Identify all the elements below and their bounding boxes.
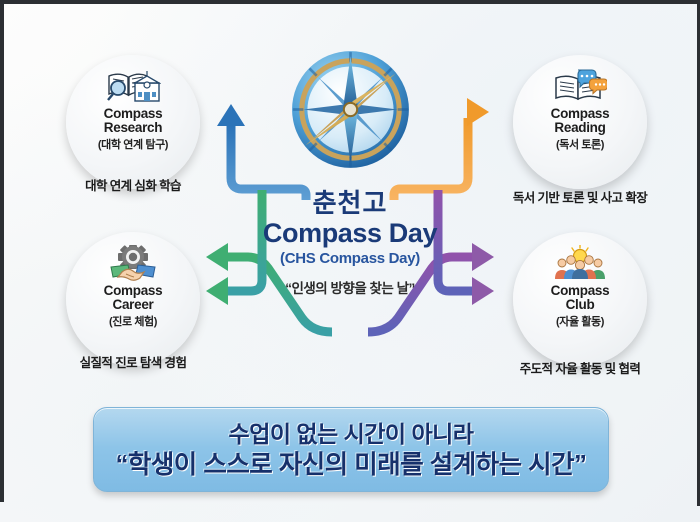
- center-title-ko: 춘천고: [215, 188, 485, 218]
- center-title-block: 춘천고 Compass Day (CHS Compass Day) “인생의 방…: [215, 188, 485, 297]
- center-slogan: “인생의 방향을 찾는 날”: [215, 277, 485, 297]
- bottom-message-banner: 수업이 없는 시간이 아니라 “학생이 스스로 자신의 미래를 설계하는 시간”: [93, 407, 609, 492]
- node-compass-reading[interactable]: CompassReading (독서 토론): [513, 55, 647, 189]
- node-title-club: CompassClub: [551, 284, 610, 311]
- node-subtitle-research: (대학 연계 탐구): [98, 136, 168, 152]
- node-subtitle-reading: (독서 토론): [556, 136, 604, 152]
- node-subtitle-career: (진로 체험): [109, 313, 157, 329]
- compass-rose-icon: [289, 48, 412, 171]
- gear-handshake-icon: [108, 245, 158, 281]
- book-magnifier-university-icon: [105, 68, 161, 104]
- node-title-research: CompassResearch: [104, 107, 163, 134]
- banner-line-2: “학생이 스스로 자신의 미래를 설계하는 시간”: [116, 449, 587, 481]
- node-title-reading: CompassReading: [551, 107, 610, 134]
- caption-career: 실질적 진로 탐색 경험: [23, 352, 243, 371]
- caption-club: 주도적 자율 활동 및 협력: [470, 358, 690, 377]
- banner-line-1: 수업이 없는 시간이 아니라: [229, 419, 474, 449]
- node-compass-research[interactable]: CompassResearch (대학 연계 탐구): [66, 55, 200, 189]
- node-subtitle-club: (자율 활동): [556, 313, 604, 329]
- node-compass-career[interactable]: CompassCareer (진로 체험): [66, 232, 200, 366]
- people-lightbulb-icon: [552, 245, 608, 281]
- open-book-speech-bubbles-icon: [553, 68, 607, 104]
- node-compass-club[interactable]: CompassClub (자율 활동): [513, 232, 647, 366]
- infographic-canvas: 춘천고 Compass Day (CHS Compass Day) “인생의 방…: [0, 0, 700, 522]
- center-subtitle: (CHS Compass Day): [215, 248, 485, 270]
- node-title-career: CompassCareer: [104, 284, 163, 311]
- caption-research: 대학 연계 심화 학습: [23, 175, 243, 194]
- center-title-en: Compass Day: [215, 218, 485, 248]
- caption-reading: 독서 기반 토론 및 사고 확장: [470, 187, 690, 206]
